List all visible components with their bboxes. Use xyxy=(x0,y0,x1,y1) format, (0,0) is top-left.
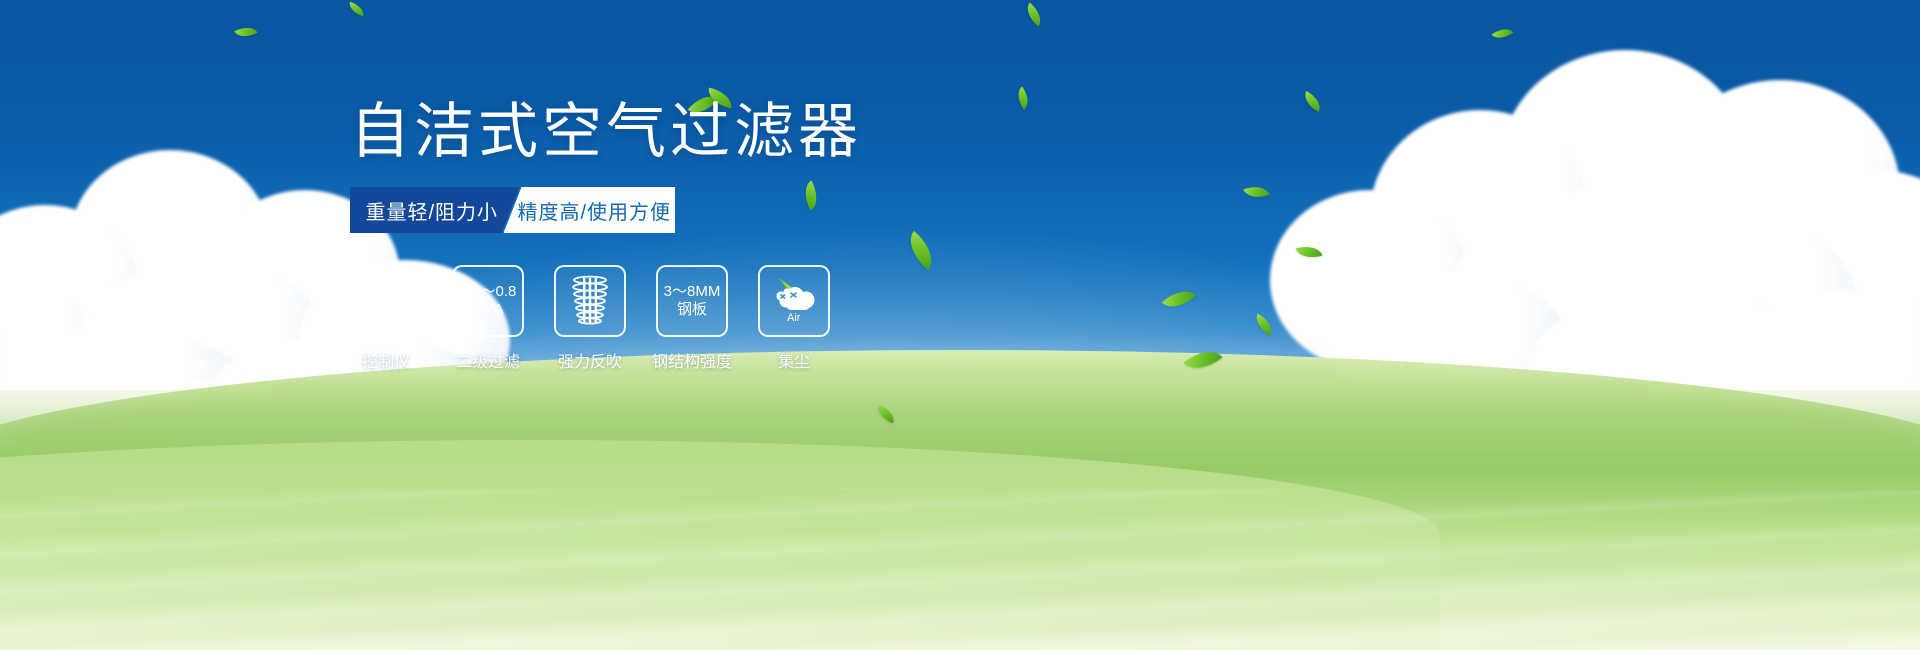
feature-icon-box xyxy=(554,265,626,337)
feature-item-steel: 3～8MM 钢板 钢结构强度 xyxy=(656,265,728,372)
feature-icon-box: 0.6～0.8 MPA xyxy=(452,265,524,337)
feature-item-controller: NO OFF 控制仪 xyxy=(350,265,422,372)
leaf-icon xyxy=(234,22,257,42)
tag-weight-resistance: 重量轻/阻力小 xyxy=(350,187,520,233)
leaf-icon xyxy=(1162,282,1196,315)
leaf-icon xyxy=(1021,2,1046,26)
feature-label: 钢结构强度 xyxy=(652,348,732,372)
gauge-no-label: NO xyxy=(363,296,374,305)
feature-label: 控制仪 xyxy=(362,348,410,372)
feature-icon-box: 3～8MM 钢板 xyxy=(656,265,728,337)
filter-cartridge-icon xyxy=(564,274,616,328)
feature-icon-box: Air xyxy=(758,265,830,337)
tag-bar: 重量轻/阻力小 精度高/使用方便 xyxy=(350,187,675,233)
banner-content: 自洁式空气过滤器 重量轻/阻力小 精度高/使用方便 xyxy=(350,100,1050,372)
cloud-air-icon: Air xyxy=(765,272,823,330)
hero-banner: 自洁式空气过滤器 重量轻/阻力小 精度高/使用方便 xyxy=(0,0,1920,650)
feature-item-dust: Air 集尘 xyxy=(758,265,830,372)
grass-field xyxy=(0,390,1920,650)
tag-precision-convenience: 精度高/使用方便 xyxy=(504,187,676,233)
leaf-icon xyxy=(347,2,366,17)
pressure-text-icon: 0.6～0.8 MPA xyxy=(460,283,517,318)
feature-label: 集尘 xyxy=(778,348,810,372)
cloud-air-text: Air xyxy=(787,312,801,324)
field-streaks xyxy=(0,490,1920,650)
feature-label: 强力反吹 xyxy=(558,348,622,372)
feature-list: NO OFF 控制仪 0.6～0.8 MPA 二级过滤 xyxy=(350,265,1050,372)
feature-item-pressure: 0.6～0.8 MPA 二级过滤 xyxy=(452,265,524,372)
feature-item-backblow: 强力反吹 xyxy=(554,265,626,372)
gauge-off-label: OFF xyxy=(396,317,409,324)
steel-plate-text-icon: 3～8MM 钢板 xyxy=(664,283,721,318)
feature-label: 二级过滤 xyxy=(456,348,520,372)
page-title: 自洁式空气过滤器 xyxy=(350,100,1050,163)
gauge-dial-icon: NO OFF xyxy=(357,272,415,330)
feature-icon-box: NO OFF xyxy=(350,265,422,337)
